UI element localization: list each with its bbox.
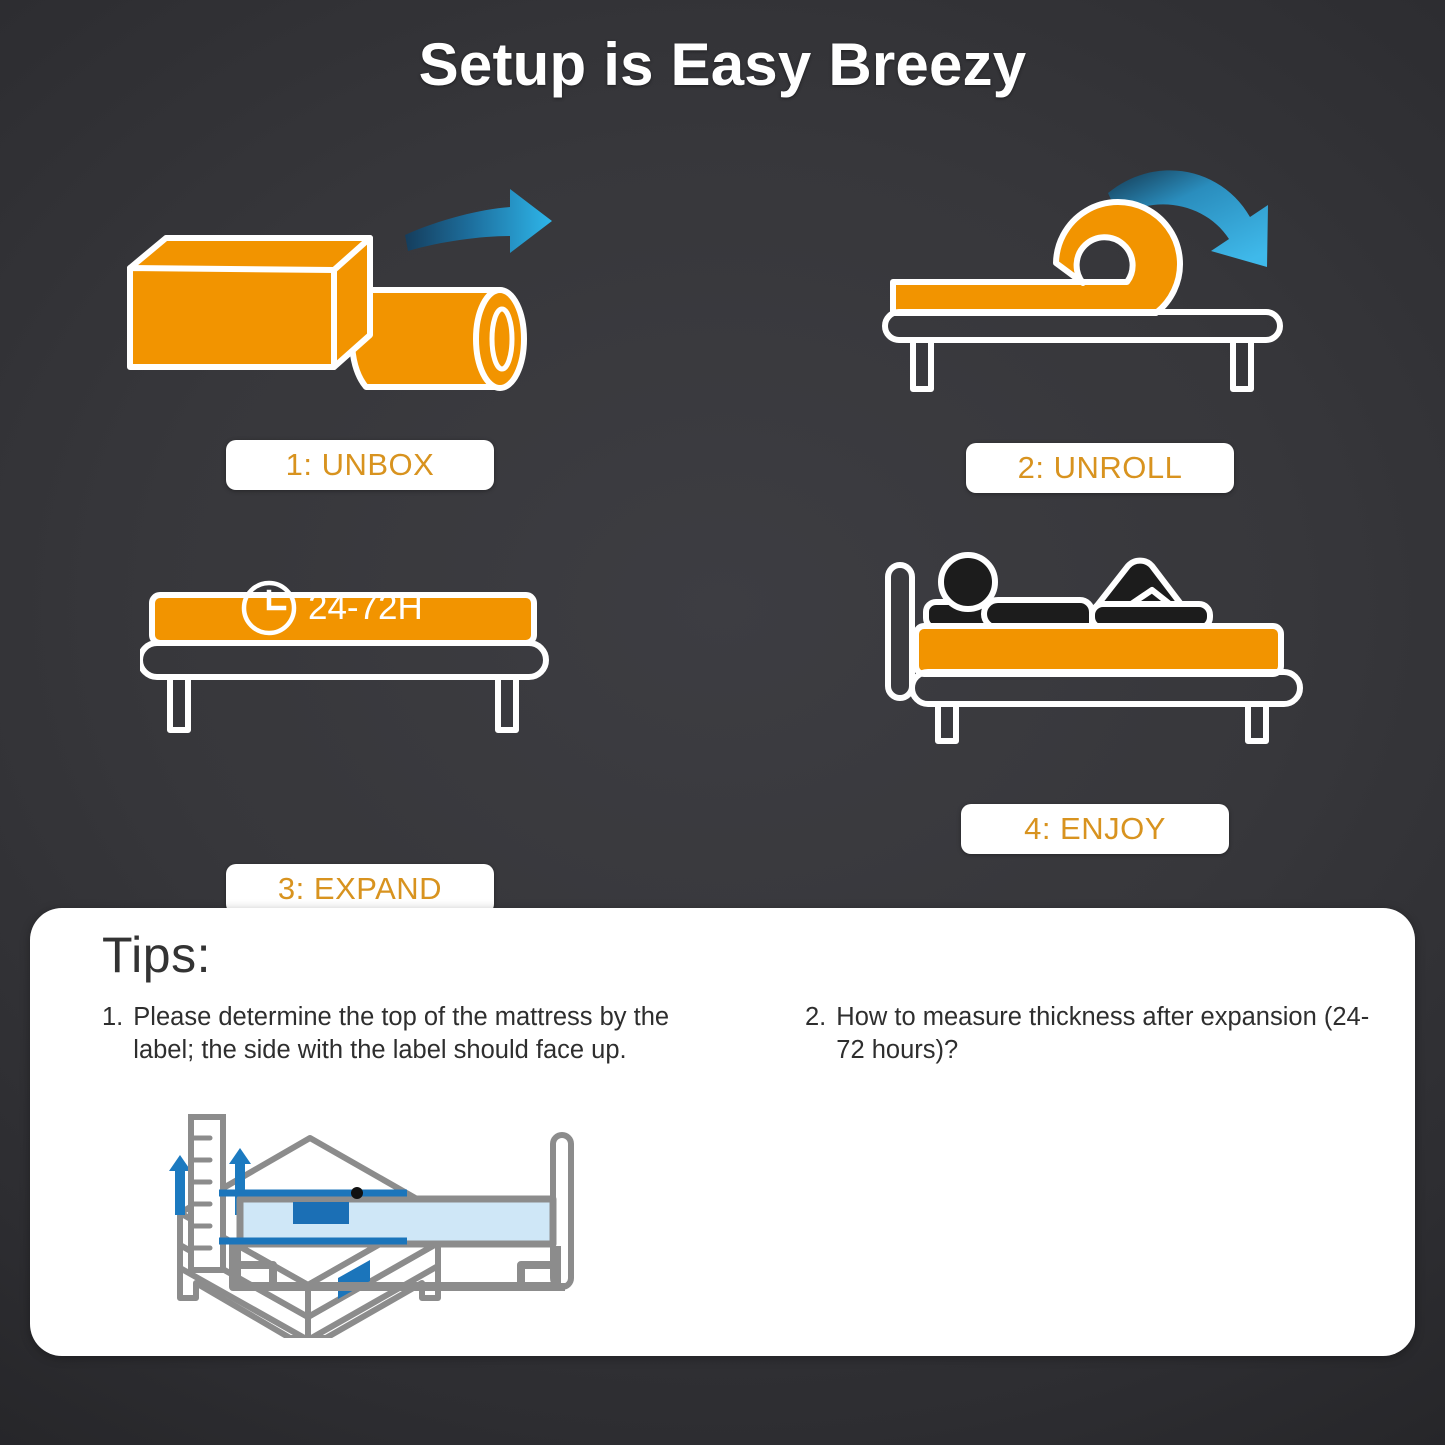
unrolling-mattress-shape bbox=[893, 202, 1180, 313]
page-title: Setup is Easy Breezy bbox=[0, 30, 1445, 99]
bed-frame-shape bbox=[140, 643, 546, 730]
rolled-mattress-shape bbox=[352, 290, 524, 388]
expand-time-text: 24-72H bbox=[308, 588, 423, 628]
tip-item-2: 2. How to measure thickness after expans… bbox=[805, 1001, 1390, 1066]
mattress-shape-side bbox=[240, 1199, 553, 1244]
ruler-icon bbox=[191, 1117, 223, 1270]
bed-base-shape bbox=[912, 672, 1300, 741]
expand-time-badge: 24-72H bbox=[240, 579, 423, 637]
tip-1-text-row: 1. Please determine the top of the mattr… bbox=[102, 1001, 702, 1066]
tip-2-body: How to measure thickness after expansion… bbox=[836, 1001, 1390, 1066]
step-label-unroll: 2: UNROLL bbox=[966, 443, 1234, 493]
orange-mattress-shape bbox=[916, 626, 1281, 674]
step-label-expand: 3: EXPAND bbox=[226, 864, 494, 914]
clock-icon bbox=[240, 579, 298, 637]
box-shape bbox=[130, 238, 370, 367]
step-unbox-illustration bbox=[120, 175, 600, 425]
tips-card: Tips: 1. Please determine the top of the… bbox=[30, 908, 1415, 1356]
tips-heading: Tips: bbox=[102, 926, 211, 984]
step-card-expand: 24-72H 3: EXPAND bbox=[140, 525, 580, 914]
mattress-label-tag bbox=[293, 1202, 349, 1224]
unbox-svg bbox=[120, 175, 600, 425]
step-unroll-illustration bbox=[875, 155, 1325, 405]
headboard-shape bbox=[888, 565, 912, 698]
step-enjoy-illustration bbox=[860, 530, 1330, 780]
step-card-unroll: 2: UNROLL bbox=[875, 155, 1325, 493]
step-card-enjoy: 4: ENJOY bbox=[860, 530, 1330, 854]
highest-point-dot bbox=[351, 1187, 363, 1199]
step-expand-illustration: 24-72H bbox=[140, 587, 580, 837]
unroll-svg bbox=[875, 155, 1325, 405]
step-label-enjoy: 4: ENJOY bbox=[961, 804, 1229, 854]
bed-side-view-ruler-svg bbox=[185, 1113, 605, 1318]
tip-1-number: 1. bbox=[102, 1001, 123, 1066]
step-label-unbox: 1: UNBOX bbox=[226, 440, 494, 490]
tip-2-number: 2. bbox=[805, 1001, 826, 1066]
sleeping-person-shape bbox=[926, 555, 1210, 628]
tip-2-text-row: 2. How to measure thickness after expans… bbox=[805, 1001, 1390, 1066]
tip-2-illustration bbox=[185, 1113, 605, 1323]
step-card-unbox: 1: UNBOX bbox=[120, 175, 600, 490]
tip-item-1: 1. Please determine the top of the mattr… bbox=[102, 1001, 702, 1066]
bed-frame-lower bbox=[233, 1244, 565, 1287]
tip-1-body: Please determine the top of the mattress… bbox=[133, 1001, 702, 1066]
infographic-page: Setup is Easy Breezy bbox=[0, 0, 1445, 1445]
enjoy-svg bbox=[860, 530, 1330, 780]
bed-frame-shape bbox=[885, 312, 1280, 389]
right-arrow-icon bbox=[405, 189, 552, 253]
